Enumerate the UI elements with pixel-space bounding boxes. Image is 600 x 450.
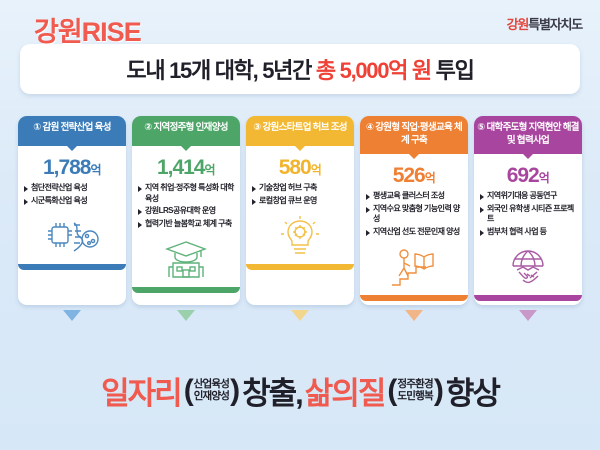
bullet-text: 기술창업 허브 구축	[259, 183, 317, 192]
strategy-card[interactable]: ⑤ 대학주도형 지역현안 해결 및 협력사업 692억 지역위기대응 공동연구 …	[474, 116, 582, 305]
amount-unit: 억	[91, 163, 102, 177]
card-title: 감원 전략산업 육성	[43, 122, 111, 133]
slogan-word-jobs: 일자리	[101, 368, 181, 413]
header-notch	[294, 145, 306, 151]
card-footer-bar	[132, 287, 240, 293]
amount-value: 692	[507, 164, 539, 187]
card-header: ④ 강원형 직업·평생교육 체계 구축	[360, 116, 468, 154]
main-title-bar: 도내 15개 대학, 5년간 총 5,000억 원 투입	[20, 44, 580, 94]
card-bullets: 기술창업 허브 구축 로컬창업 큐브 운영	[246, 183, 354, 206]
bullet-text: 강원LRS공유대학 운영	[145, 206, 216, 215]
paren-open: (	[387, 376, 396, 406]
card-footer-bar	[360, 295, 468, 301]
card-title: 대학주도형 지역현안 해결 및 협력사업	[486, 122, 578, 146]
bullet-text: 협력기반 늘봄학교 체계 구축	[145, 219, 232, 228]
bullet-item: 평생교육 클러스터 조성	[366, 191, 463, 202]
card-footer-bar	[246, 264, 354, 270]
card-footer-bar	[474, 295, 582, 301]
card-amount: 580억	[246, 157, 354, 178]
amount-unit: 억	[539, 171, 550, 185]
bullet-item: 지역위기대응 공동연구	[480, 191, 577, 202]
card-bullets: 지역위기대응 공동연구 외국인 유학생 시티즌 프로젝트 범부처 협력 사업 등	[474, 191, 582, 237]
bullet-item: 지역수요 맞춤형 기능인력 양성	[366, 204, 463, 225]
globe-handshake-icon	[474, 241, 582, 293]
down-arrow-icon	[519, 310, 537, 321]
card-number: ①	[33, 122, 40, 133]
paren-line-top: 정주환경	[397, 379, 432, 391]
card-amount: 526억	[360, 165, 468, 186]
bullet-item: 범부처 협력 사업 등	[480, 227, 577, 238]
strategy-card[interactable]: ④ 강원형 직업·평생교육 체계 구축 526억 평생교육 클러스터 조성 지역…	[360, 116, 468, 305]
bullet-item: 협력기반 늘봄학교 체계 구축	[138, 219, 235, 230]
bullet-text: 지역수요 맞춤형 기능인력 양성	[373, 204, 460, 224]
down-arrow-icon	[291, 310, 309, 321]
slogan-paren-group-1: ( 산업육성 인재양성 )	[184, 376, 239, 406]
brand-title: 강원RISE	[34, 10, 141, 49]
graduation-cap-school-icon	[132, 233, 240, 285]
bullet-item: 지역 취업·정주형 특성화 대학 육성	[138, 183, 235, 204]
card-bullets: 평생교육 클러스터 조성 지역수요 맞춤형 기능인력 양성 지역산업 선도 전문…	[360, 191, 468, 237]
card-number: ②	[144, 122, 151, 133]
infographic-poster: 강원RISE 강원특별자치도 도내 15개 대학, 5년간 총 5,000억 원…	[0, 0, 600, 450]
bullet-item: 강원LRS공유대학 운영	[138, 206, 235, 217]
bullet-text: 시군특화산업 육성	[31, 196, 87, 205]
lightbulb-gear-icon	[246, 210, 354, 262]
header-notch	[408, 153, 420, 159]
title-highlight: 총 5,000억 원	[316, 58, 431, 83]
card-header: ② 지역정주형 인재양성	[132, 116, 240, 146]
bullet-item: 로컬창업 큐브 운영	[252, 196, 349, 207]
card-header: ③ 강원스타트업 허브 조성	[246, 116, 354, 146]
card-title: 강원스타트업 허브 조성	[263, 122, 347, 133]
card-amount: 1,788억	[18, 157, 126, 178]
paren-stack: 정주환경 도민행복	[396, 379, 433, 402]
card-header: ⑤ 대학주도형 지역현안 해결 및 협력사업	[474, 116, 582, 154]
strategy-card[interactable]: ① 감원 전략산업 육성 1,788억 첨단전략산업 육성 시군특화산업 육성	[18, 116, 126, 305]
card-title: 지역정주형 인재양성	[153, 122, 227, 133]
down-arrow-icon	[177, 310, 195, 321]
bullet-text: 범부처 협력 사업 등	[487, 227, 547, 236]
bullet-item: 첨단전략산업 육성	[24, 183, 121, 194]
title-suffix: 투입	[431, 58, 474, 83]
bullet-item: 시군특화산업 육성	[24, 196, 121, 207]
amount-unit: 억	[205, 163, 216, 177]
gangwon-province-logo: 강원특별자치도	[507, 14, 582, 33]
bullet-text: 외국인 유학생 시티즌 프로젝트	[487, 204, 574, 224]
paren-close: )	[434, 376, 443, 406]
amount-unit: 억	[311, 163, 322, 177]
slogan-word-improvement: 향상	[446, 368, 499, 413]
bullet-text: 평생교육 클러스터 조성	[373, 191, 444, 200]
card-number: ④	[366, 122, 373, 133]
card-number: ⑤	[477, 122, 484, 133]
amount-unit: 억	[425, 171, 436, 185]
bullet-item: 기술창업 허브 구축	[252, 183, 349, 194]
card-title: 강원형 직업·평생교육 체계 구축	[375, 122, 462, 146]
paren-stack: 산업육성 인재양성	[193, 379, 230, 402]
gov-logo-accent: 강원	[507, 17, 529, 32]
bullet-item: 지역산업 선도 전문인재 양성	[366, 227, 463, 238]
bullet-text: 로컬창업 큐브 운영	[259, 196, 317, 205]
chip-dna-microscope-icon	[18, 210, 126, 262]
amount-value: 1,788	[43, 156, 91, 179]
amount-value: 580	[279, 156, 311, 179]
card-number: ③	[253, 122, 260, 133]
gov-logo-rest: 특별자치도	[528, 17, 582, 32]
bullet-text: 첨단전략산업 육성	[31, 183, 87, 192]
slogan-word-quality-of-life: 삶의질	[305, 368, 385, 413]
header-notch	[180, 145, 192, 151]
bullet-text: 지역산업 선도 전문인재 양성	[373, 227, 460, 236]
header-notch	[522, 153, 534, 159]
bullet-text: 지역 취업·정주형 특성화 대학 육성	[145, 183, 234, 203]
card-amount: 1,414억	[132, 157, 240, 178]
main-title: 도내 15개 대학, 5년간 총 5,000억 원 투입	[126, 53, 473, 85]
bullet-item: 외국인 유학생 시티즌 프로젝트	[480, 204, 577, 225]
card-bullets: 지역 취업·정주형 특성화 대학 육성 강원LRS공유대학 운영 협력기반 늘봄…	[132, 183, 240, 229]
footer-slogan: 일자리 ( 산업육성 인재양성 ) 창출, 삶의질 ( 정주환경 도민행복 ) …	[0, 368, 600, 413]
strategy-card[interactable]: ② 지역정주형 인재양성 1,414억 지역 취업·정주형 특성화 대학 육성 …	[132, 116, 240, 305]
strategy-card[interactable]: ③ 강원스타트업 허브 조성 580억 기술창업 허브 구축 로컬창업 큐브 운…	[246, 116, 354, 305]
paren-open: (	[184, 376, 193, 406]
paren-line-bottom: 도민행복	[397, 391, 432, 403]
card-amount: 692억	[474, 165, 582, 186]
amount-value: 526	[393, 164, 425, 187]
header-notch	[66, 145, 78, 151]
paren-line-bottom: 인재양성	[194, 391, 229, 403]
paren-line-top: 산업육성	[194, 379, 229, 391]
title-prefix: 도내 15개 대학, 5년간	[126, 58, 315, 83]
slogan-paren-group-2: ( 정주환경 도민행복 )	[387, 376, 442, 406]
amount-value: 1,414	[157, 156, 205, 179]
strategy-cards: ① 감원 전략산업 육성 1,788억 첨단전략산업 육성 시군특화산업 육성	[18, 116, 582, 305]
card-footer-bar	[18, 264, 126, 270]
down-arrow-icon	[405, 310, 423, 321]
slogan-word-creation: 창출,	[242, 368, 302, 413]
card-header: ① 감원 전략산업 육성	[18, 116, 126, 146]
down-arrow-icon	[63, 310, 81, 321]
paren-close: )	[230, 376, 239, 406]
person-stairs-book-icon	[360, 241, 468, 293]
bullet-text: 지역위기대응 공동연구	[487, 191, 557, 200]
card-bullets: 첨단전략산업 육성 시군특화산업 육성	[18, 183, 126, 206]
